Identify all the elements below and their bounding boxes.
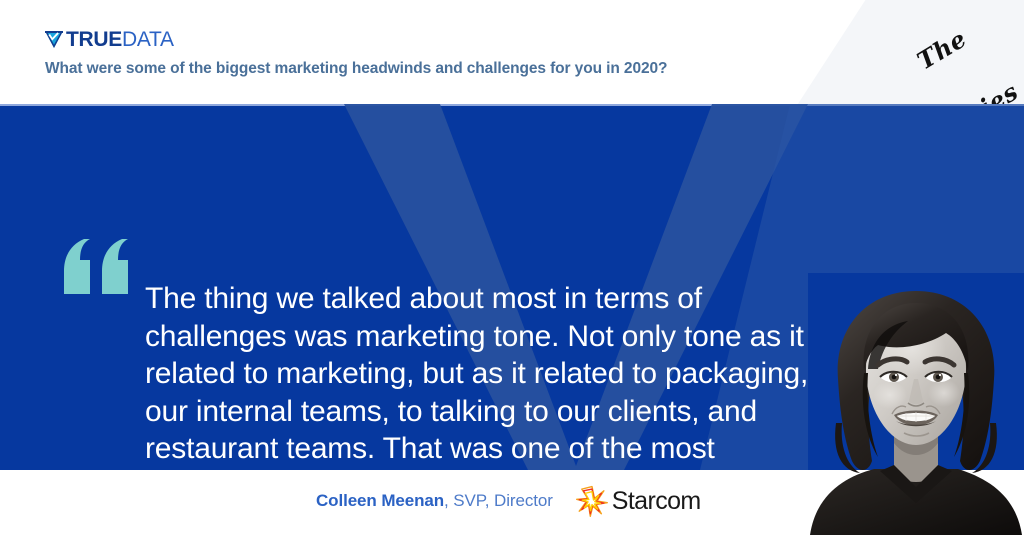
speaker-name: Colleen Meenan: [316, 491, 444, 511]
logo-text-data: DATA: [122, 29, 174, 50]
portrait-photo: [808, 273, 1024, 535]
quote-text: The thing we talked about most in terms …: [145, 280, 845, 470]
speaker-portrait: [808, 273, 1024, 535]
open-quote-icon: [62, 238, 134, 296]
check-triangle-icon: [44, 29, 64, 49]
header-question: What were some of the biggest marketing …: [45, 60, 667, 78]
starcom-wordmark: Starcom: [612, 487, 701, 516]
truedata-logo[interactable]: TRUEDATA: [44, 27, 174, 51]
starcom-logo[interactable]: Starcom: [575, 484, 701, 518]
header-bar: TRUEDATA What were some of the biggest m…: [0, 0, 1024, 104]
speaker-role: , SVP, Director: [444, 491, 553, 511]
attribution-line: Colleen Meenan, SVP, Director Starcom: [316, 487, 701, 515]
quote-card: TRUEDATA What were some of the biggest m…: [0, 0, 1024, 535]
logo-text-true: TRUE: [66, 29, 122, 50]
starburst-icon: [575, 484, 609, 518]
